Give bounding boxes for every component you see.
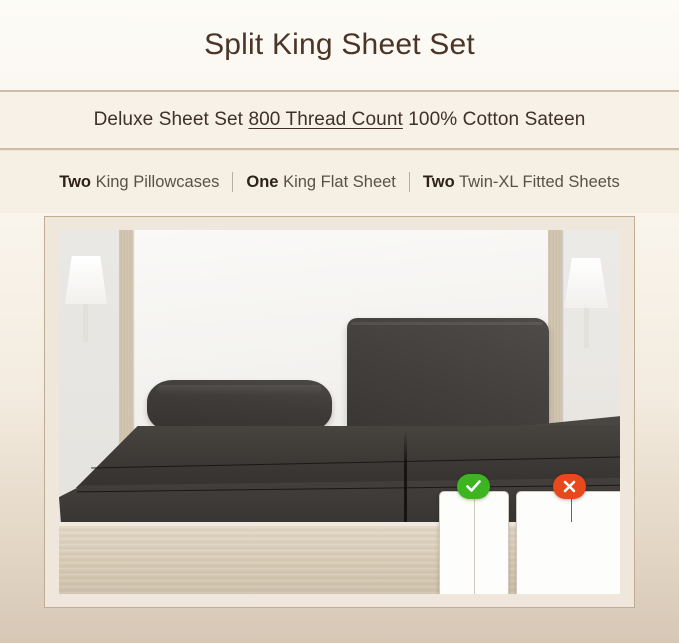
- lamp-stem-right: [584, 308, 589, 348]
- feature-item-pillowcases: Two King Pillowcases: [59, 173, 219, 192]
- pillow-upright: [347, 318, 549, 442]
- feature-row: Two King Pillowcases One King Flat Sheet…: [0, 151, 679, 213]
- subtitle: Deluxe Sheet Set 800 Thread Count 100% C…: [94, 109, 586, 131]
- mattress-top-surface: [59, 426, 620, 488]
- feature-item-flat-sheet: One King Flat Sheet: [246, 173, 396, 192]
- subtitle-prefix: Deluxe Sheet Set: [94, 109, 249, 130]
- product-image-page: Split King Sheet Set Deluxe Sheet Set 80…: [0, 0, 679, 643]
- feature-label: King Flat Sheet: [278, 173, 395, 191]
- feature-qty: Two: [423, 173, 455, 191]
- feature-list: Two King Pillowcases One King Flat Sheet…: [59, 172, 620, 192]
- feature-separator: [409, 172, 410, 192]
- title-band: Split King Sheet Set: [0, 0, 679, 89]
- check-badge: [457, 474, 490, 499]
- feature-qty: One: [246, 173, 278, 191]
- feature-separator: [232, 172, 233, 192]
- product-photo: [59, 230, 620, 594]
- single-sheet-card: [516, 491, 620, 594]
- check-icon: [466, 480, 481, 493]
- x-icon: [563, 480, 576, 493]
- subtitle-band: Deluxe Sheet Set 800 Thread Count 100% C…: [0, 92, 679, 148]
- subtitle-suffix: 100% Cotton Sateen: [403, 109, 586, 130]
- feature-label: King Pillowcases: [91, 173, 219, 191]
- feature-qty: Two: [59, 173, 91, 191]
- feature-label: Twin-XL Fitted Sheets: [455, 173, 620, 191]
- page-title: Split King Sheet Set: [204, 28, 475, 62]
- pillow-lying: [147, 380, 332, 432]
- split-sheet-card: [439, 491, 509, 594]
- feature-item-fitted-sheets: Two Twin-XL Fitted Sheets: [423, 173, 620, 192]
- x-badge: [553, 474, 586, 499]
- subtitle-thread-count: 800 Thread Count: [248, 109, 402, 130]
- lamp-shade-left: [65, 256, 107, 304]
- bed-post-left: [119, 230, 133, 465]
- split-sheet-divider: [474, 492, 475, 594]
- product-photo-frame: [44, 216, 635, 608]
- lamp-stem-left: [83, 304, 88, 342]
